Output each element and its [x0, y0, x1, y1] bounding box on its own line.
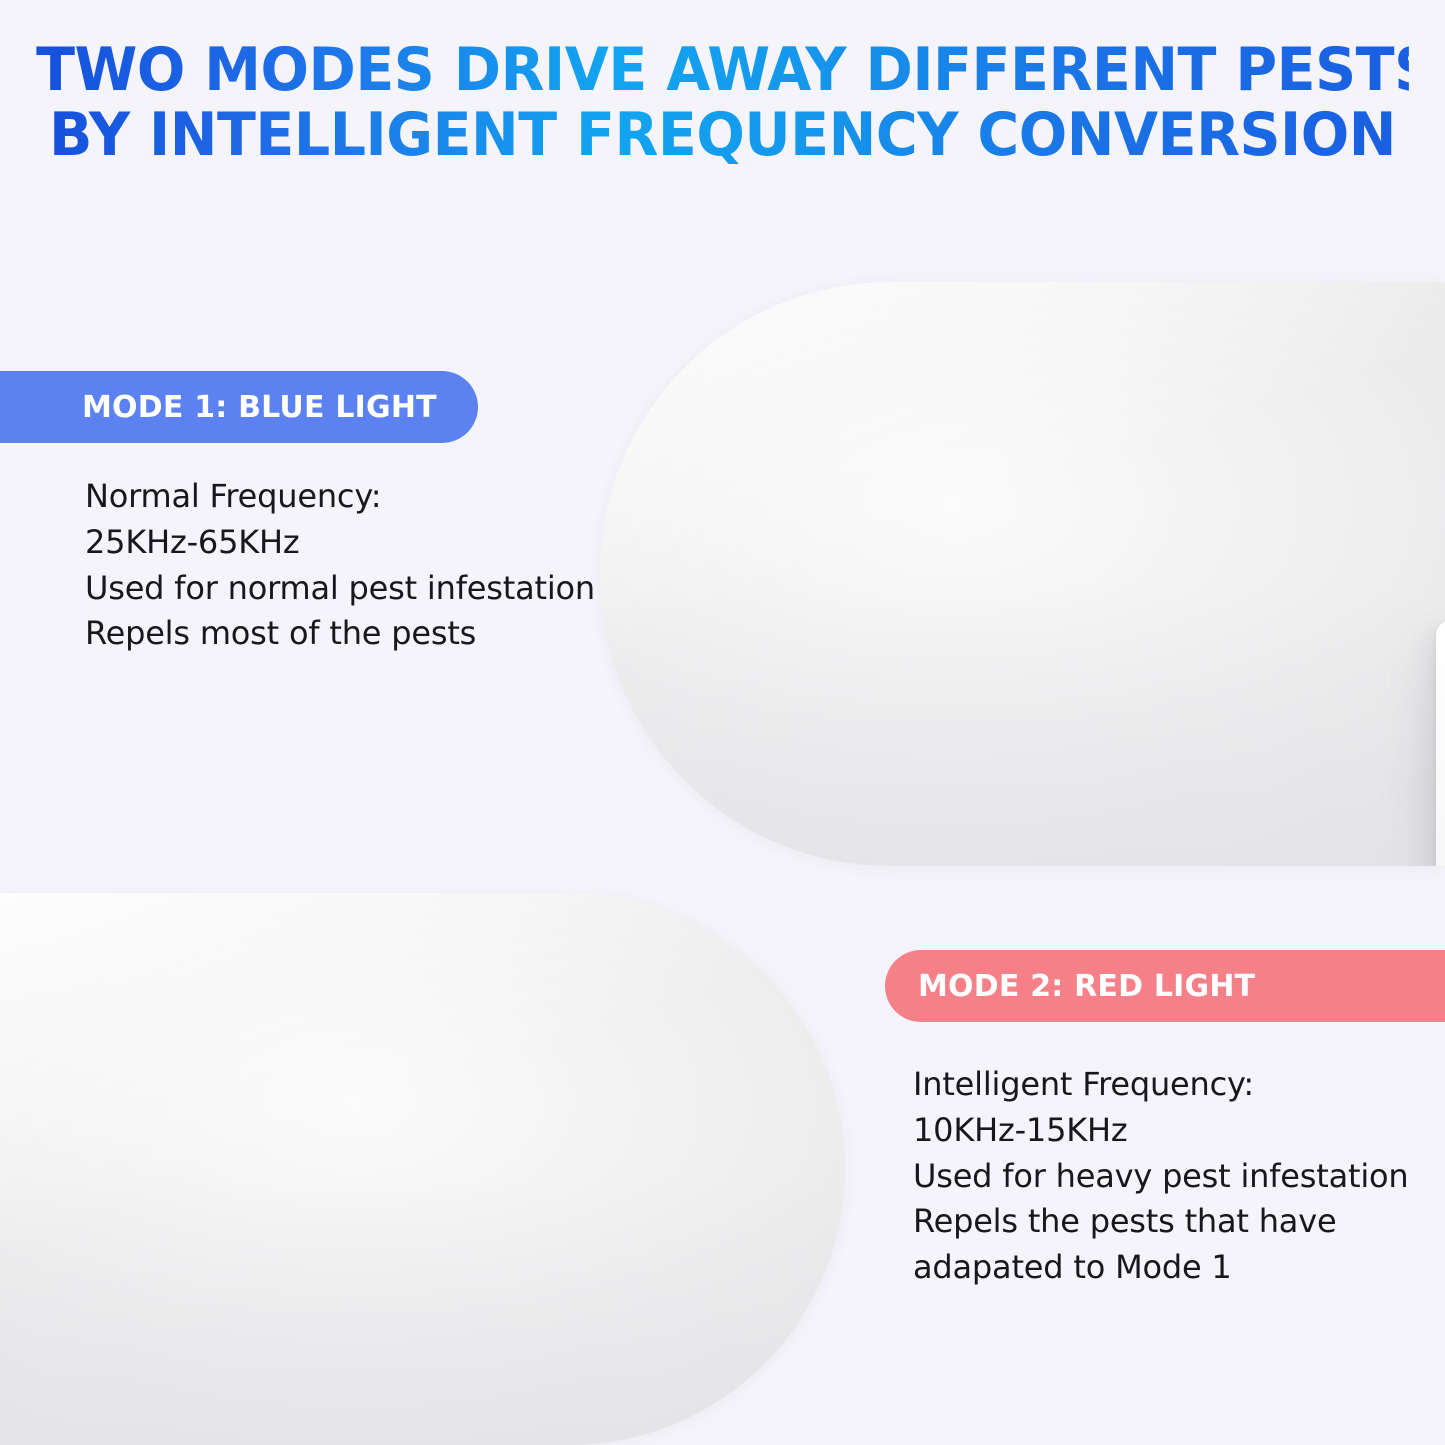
photo-panel-blue-mode [600, 282, 1445, 866]
mode-1-line-4: Repels most of the pests [85, 611, 595, 657]
mode-2-description: Intelligent Frequency: 10KHz-15KHz Used … [913, 1062, 1409, 1291]
mode-2-line-2: 10KHz-15KHz [913, 1108, 1409, 1154]
mode-2-line-3: Used for heavy pest infestation [913, 1154, 1409, 1200]
mode-1-description: Normal Frequency: 25KHz-65KHz Used for n… [85, 474, 595, 657]
mode-1-line-1: Normal Frequency: [85, 474, 595, 520]
mode-2-badge: MODE 2: RED LIGHT [885, 950, 1445, 1022]
mode-1-badge: MODE 1: BLUE LIGHT [0, 371, 478, 443]
photo-panel-red-mode [0, 893, 845, 1445]
mode-2-line-4: Repels the pests that have [913, 1199, 1409, 1245]
wall-outlet-plate [1436, 620, 1445, 866]
headline-line-2: BY INTELLIGENT FREQUENCY CONVERSION [36, 103, 1409, 168]
photo-lighting-overlay [600, 282, 1445, 866]
infographic-canvas: TWO MODES DRIVE AWAY DIFFERENT PESTS BY … [0, 0, 1445, 1445]
mode-1-line-2: 25KHz-65KHz [85, 520, 595, 566]
mode-2-line-5: adapated to Mode 1 [913, 1245, 1409, 1291]
photo-lighting-overlay [0, 893, 845, 1445]
mode-1-line-3: Used for normal pest infestation [85, 566, 595, 612]
page-title: TWO MODES DRIVE AWAY DIFFERENT PESTS BY … [0, 38, 1445, 168]
headline-line-1: TWO MODES DRIVE AWAY DIFFERENT PESTS [36, 38, 1409, 103]
mode-2-line-1: Intelligent Frequency: [913, 1062, 1409, 1108]
